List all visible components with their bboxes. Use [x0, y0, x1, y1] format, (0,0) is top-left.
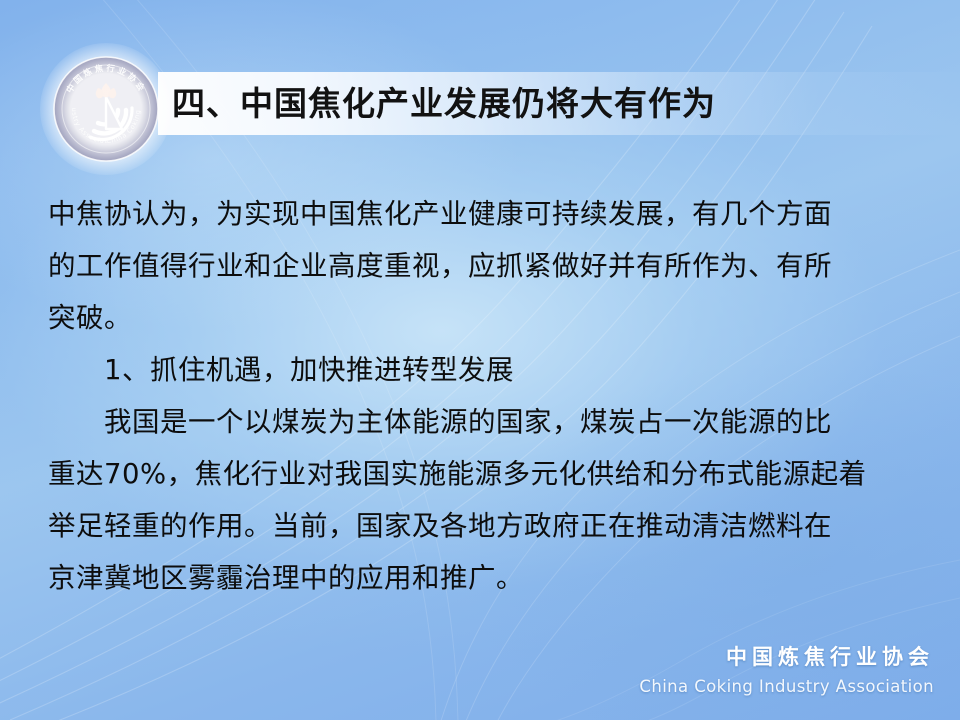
footer-org-name-en: China Coking Industry Association	[639, 677, 934, 696]
body-line: 重达70%，焦化行业对我国实施能源多元化供给和分布式能源起着	[48, 448, 914, 500]
page-title: 四、中国焦化产业发展仍将大有作为	[172, 76, 716, 132]
body-line-subheading: 1、抓住机遇，加快推进转型发展	[48, 344, 914, 396]
body-line: 中焦协认为，为实现中国焦化产业健康可持续发展，有几个方面	[48, 188, 914, 240]
body-line: 京津冀地区雾霾治理中的应用和推广。	[48, 552, 914, 604]
slide-footer: 中国炼焦行业协会 China Coking Industry Associati…	[639, 641, 934, 696]
association-logo: 中国炼焦行业协会 China Coking Industry Associati…	[50, 53, 162, 165]
slide-body: 中焦协认为，为实现中国焦化产业健康可持续发展，有几个方面 的工作值得行业和企业高…	[48, 188, 914, 604]
footer-org-name-cn: 中国炼焦行业协会	[639, 641, 934, 671]
body-line: 突破。	[48, 292, 914, 344]
logo-glow	[40, 43, 172, 175]
body-line: 的工作值得行业和企业高度重视，应抓紧做好并有所作为、有所	[48, 240, 914, 292]
presentation-slide: 四、中国焦化产业发展仍将大有作为 中国炼焦行业协会 China Coking I…	[0, 0, 960, 720]
body-line: 举足轻重的作用。当前，国家及各地方政府正在推动清洁燃料在	[48, 500, 914, 552]
body-line: 我国是一个以煤炭为主体能源的国家，煤炭占一次能源的比	[48, 396, 914, 448]
